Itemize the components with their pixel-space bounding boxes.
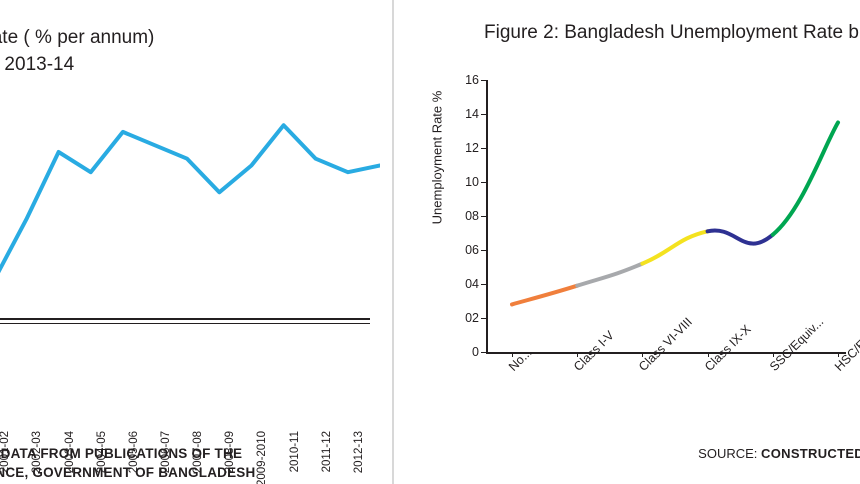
- left-figure-title-line-1: owth rate ( % per annum): [0, 24, 370, 51]
- left-figure-footer-line-1: Y USING DATA FROM PUBLICATIONS OF THE: [0, 444, 380, 463]
- unemployment-line-chart: 00204060810121416 No...Class I-VClass VI…: [486, 80, 846, 352]
- y-tick-label: 08: [465, 209, 479, 223]
- left-axis-rule-bottom: [0, 323, 370, 324]
- y-tick-label: 04: [465, 277, 479, 291]
- y-axis-label: Unemployment Rate %: [430, 53, 445, 263]
- left-x-tick-labels: 1999-20002000-012001-022002-032003-04200…: [0, 327, 378, 437]
- y-tick-label: 16: [465, 73, 479, 87]
- y-tick-label: 12: [465, 141, 479, 155]
- left-axis-rule-top: [0, 318, 370, 320]
- left-line-chart-svg: [0, 105, 380, 320]
- left-figure-title-line-2: 0-91 to 2013-14: [0, 51, 370, 78]
- unemployment-series-segment: [773, 123, 838, 235]
- left-series-line: [0, 125, 380, 280]
- right-figure-title: Figure 2: Bangladesh Unemployment Rate b: [484, 22, 860, 44]
- left-line-chart: [0, 105, 380, 320]
- source-note: SOURCE: CONSTRUCTED: [574, 446, 860, 461]
- left-figure-footer: Y USING DATA FROM PUBLICATIONS OF THE OF…: [0, 444, 380, 482]
- y-tick-label: 14: [465, 107, 479, 121]
- left-figure-panel: owth rate ( % per annum) 0-91 to 2013-14…: [0, 0, 385, 484]
- y-tick-label: 06: [465, 243, 479, 257]
- unemployment-series-svg: [486, 80, 846, 352]
- y-tick-label: 02: [465, 311, 479, 325]
- unemployment-series-segment: [577, 264, 642, 286]
- y-tick-mark: [481, 352, 486, 353]
- unemployment-series-segment: [512, 286, 577, 305]
- source-label: SOURCE:: [698, 446, 757, 461]
- source-value: CONSTRUCTED: [761, 446, 860, 461]
- left-figure-footer-line-2: OF FINANCE, GOVERNMENT OF BANGLADESH: [0, 463, 380, 482]
- right-figure-panel: Figure 2: Bangladesh Unemployment Rate b…: [394, 0, 860, 484]
- left-figure-title: owth rate ( % per annum) 0-91 to 2013-14: [0, 24, 370, 78]
- y-tick-label: 0: [472, 345, 479, 359]
- unemployment-series-segment: [642, 231, 707, 263]
- y-tick-label: 10: [465, 175, 479, 189]
- unemployment-series-segment: [708, 230, 773, 243]
